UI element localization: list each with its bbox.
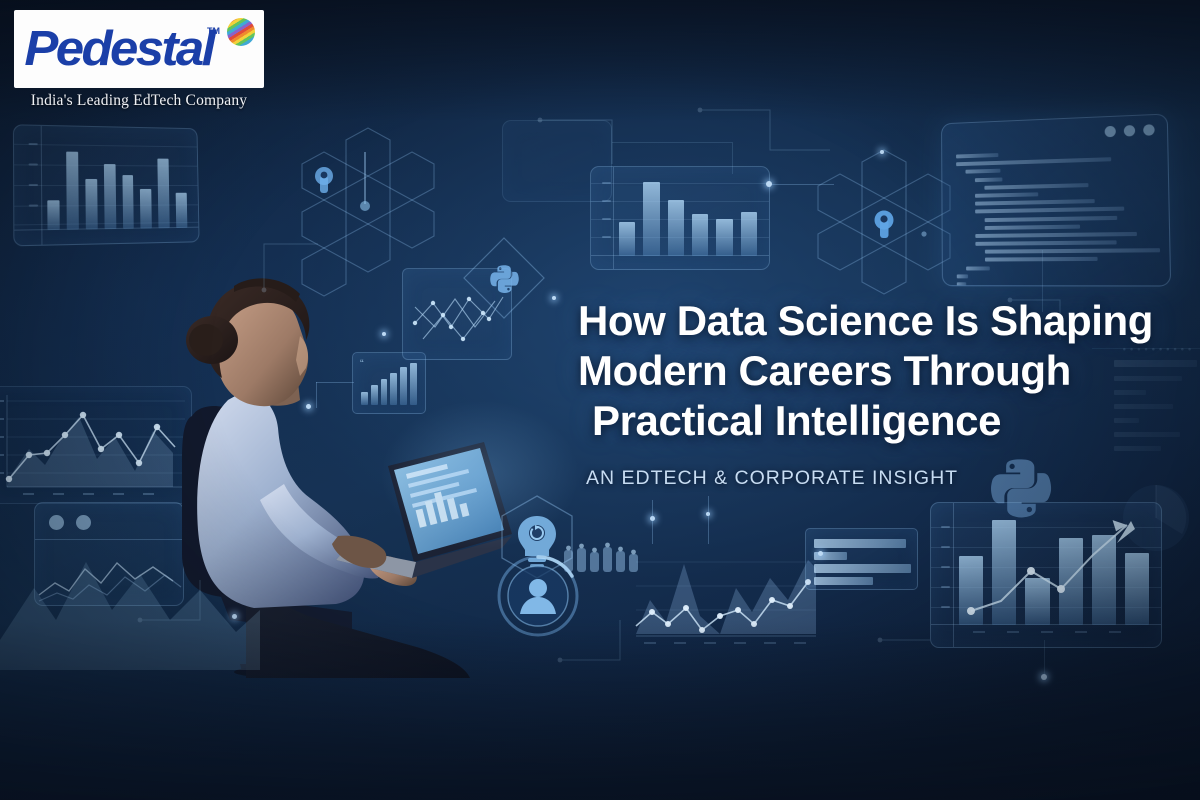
logo-wordmark: Pedestal [24,25,213,74]
title-line-1: How Data Science Is Shaping [578,296,1178,346]
brand-tagline: India's Leading EdTech Company [14,92,264,110]
trademark-symbol: TM [207,26,220,36]
logo-card[interactable]: Pedestal TM [14,10,264,88]
rainbow-circle-icon [227,18,255,46]
page-title: How Data Science Is Shaping Modern Caree… [578,296,1178,446]
hero-banner: • • • • • • • • • • “ [0,0,1200,800]
bottom-gradient-overlay [0,620,1200,800]
brand-logo-block[interactable]: Pedestal TM India's Leading EdTech Compa… [14,10,264,110]
title-line-3: Practical Intelligence [578,396,1178,446]
title-line-2: Modern Careers Through [578,346,1178,396]
page-subtitle: AN EDTECH & CORPORATE INSIGHT [586,467,958,490]
